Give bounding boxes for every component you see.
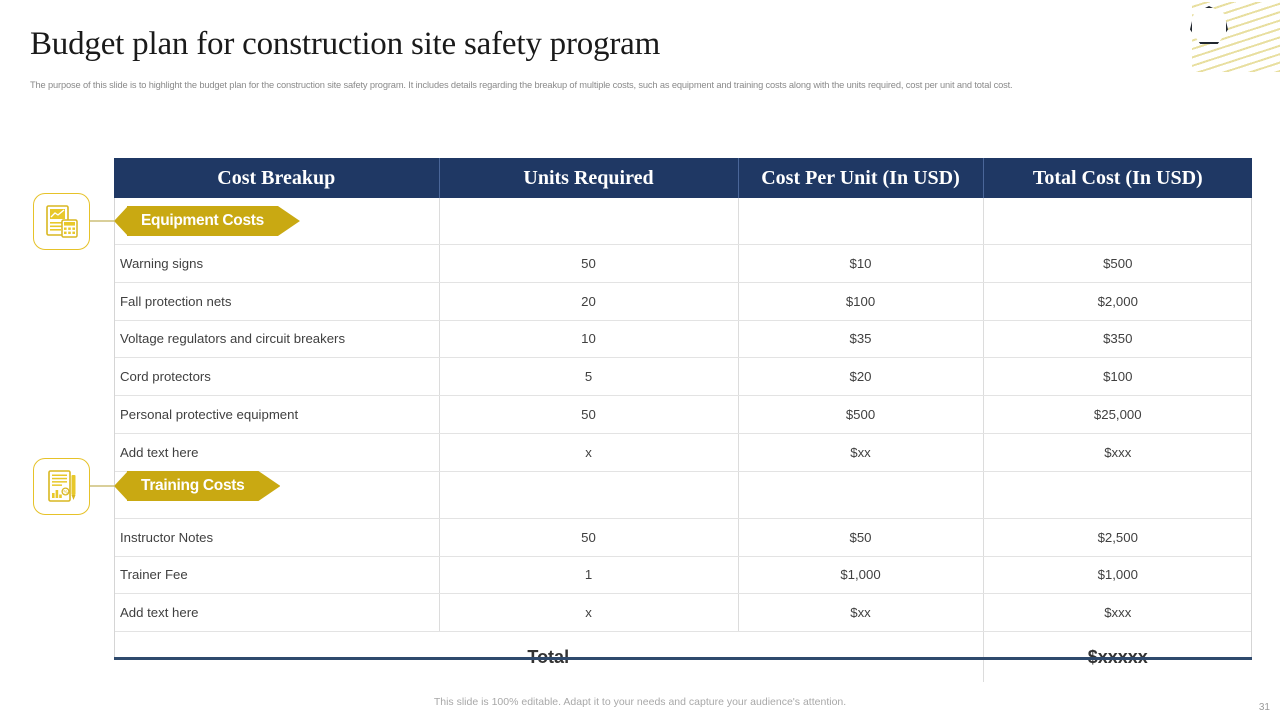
- footer-note: This slide is 100% editable. Adapt it to…: [0, 696, 1280, 708]
- document-bar-chart-pen-icon: %: [44, 468, 80, 504]
- cell-total-cost: $1,000: [983, 556, 1252, 594]
- cell-total-cost: $25,000: [983, 396, 1252, 434]
- column-header-total-cost: Total Cost (In USD): [983, 158, 1252, 198]
- cell-units-required: 50: [439, 518, 738, 556]
- table-row: Add text here x $xx $xxx: [114, 433, 1252, 471]
- table-left-border: [114, 198, 115, 659]
- cell-cost-breakup: Warning signs: [114, 245, 439, 283]
- column-header-units-required: Units Required: [439, 158, 738, 198]
- page-number: 31: [1259, 702, 1270, 713]
- corner-decoration: [1170, 0, 1280, 72]
- cell-cost-breakup: Cord protectors: [114, 358, 439, 396]
- banner-connector-line: [90, 485, 114, 487]
- cell-cost-per-unit: $1,000: [738, 556, 983, 594]
- spacer-cell: [738, 198, 983, 245]
- cell-units-required: 20: [439, 282, 738, 320]
- cell-cost-per-unit: $xx: [738, 433, 983, 471]
- section-banner-equipment[interactable]: Equipment Costs: [33, 192, 300, 250]
- cell-cost-breakup: Fall protection nets: [114, 282, 439, 320]
- cell-cost-breakup: Instructor Notes: [114, 518, 439, 556]
- cell-units-required: x: [439, 594, 738, 632]
- section-spacer-training: [114, 471, 1252, 518]
- table-body: Warning signs 50 $10 $500 Fall protectio…: [114, 198, 1252, 682]
- cell-units-required: 10: [439, 320, 738, 358]
- cell-total-cost: $350: [983, 320, 1252, 358]
- heptagon-fill: [1190, 6, 1224, 40]
- spacer-cell: [439, 471, 738, 518]
- chart-document-calculator-icon: [44, 203, 80, 239]
- table-row: Voltage regulators and circuit breakers …: [114, 320, 1252, 358]
- page-title: Budget plan for construction site safety…: [30, 26, 660, 63]
- cell-cost-per-unit: $35: [738, 320, 983, 358]
- section-banner-training[interactable]: % Training Costs: [33, 457, 280, 515]
- table-row: Add text here x $xx $xxx: [114, 594, 1252, 632]
- spacer-cell: [738, 471, 983, 518]
- table-right-border: [1251, 198, 1252, 659]
- cell-cost-per-unit: $100: [738, 282, 983, 320]
- heptagon-outline-icon: [1190, 6, 1228, 44]
- cell-total-cost: $100: [983, 358, 1252, 396]
- cell-total-cost: $500: [983, 245, 1252, 283]
- cell-cost-breakup: Personal protective equipment: [114, 396, 439, 434]
- cell-cost-per-unit: $50: [738, 518, 983, 556]
- training-costs-label: Training Costs: [141, 477, 244, 495]
- cell-cost-breakup: Trainer Fee: [114, 556, 439, 594]
- table-row: Warning signs 50 $10 $500: [114, 245, 1252, 283]
- banner-arrow-notch: [114, 206, 128, 236]
- equipment-costs-tag[interactable]: Equipment Costs: [127, 206, 300, 236]
- svg-text:%: %: [63, 490, 68, 496]
- equipment-costs-label: Equipment Costs: [141, 212, 264, 230]
- table-row: Fall protection nets 20 $100 $2,000: [114, 282, 1252, 320]
- cell-units-required: x: [439, 433, 738, 471]
- cell-units-required: 1: [439, 556, 738, 594]
- training-costs-tag[interactable]: Training Costs: [127, 471, 280, 501]
- cell-units-required: 50: [439, 245, 738, 283]
- hatch-lines-decoration: [1192, 2, 1280, 72]
- cell-cost-per-unit: $10: [738, 245, 983, 283]
- banner-arrow-notch: [114, 471, 128, 501]
- cell-cost-per-unit: $20: [738, 358, 983, 396]
- page-subtitle: The purpose of this slide is to highligh…: [30, 79, 1252, 92]
- table-row: Trainer Fee 1 $1,000 $1,000: [114, 556, 1252, 594]
- cell-cost-breakup: Add text here: [114, 594, 439, 632]
- cell-total-cost: $2,000: [983, 282, 1252, 320]
- cell-units-required: 50: [439, 396, 738, 434]
- table-bottom-border: [114, 657, 1252, 660]
- cell-units-required: 5: [439, 358, 738, 396]
- equipment-icon-box: [33, 193, 90, 250]
- spacer-cell: [983, 471, 1252, 518]
- spacer-cell: [439, 198, 738, 245]
- spacer-cell: [983, 198, 1252, 245]
- table-row: Cord protectors 5 $20 $100: [114, 358, 1252, 396]
- banner-connector-line: [90, 220, 114, 222]
- cell-total-cost: $xxx: [983, 594, 1252, 632]
- cell-cost-breakup: Voltage regulators and circuit breakers: [114, 320, 439, 358]
- training-icon-box: %: [33, 458, 90, 515]
- cell-total-cost: $xxx: [983, 433, 1252, 471]
- cell-total-cost: $2,500: [983, 518, 1252, 556]
- table-row: Personal protective equipment 50 $500 $2…: [114, 396, 1252, 434]
- cell-cost-per-unit: $500: [738, 396, 983, 434]
- cell-cost-per-unit: $xx: [738, 594, 983, 632]
- column-header-cost-per-unit: Cost Per Unit (In USD): [738, 158, 983, 198]
- table-row: Instructor Notes 50 $50 $2,500: [114, 518, 1252, 556]
